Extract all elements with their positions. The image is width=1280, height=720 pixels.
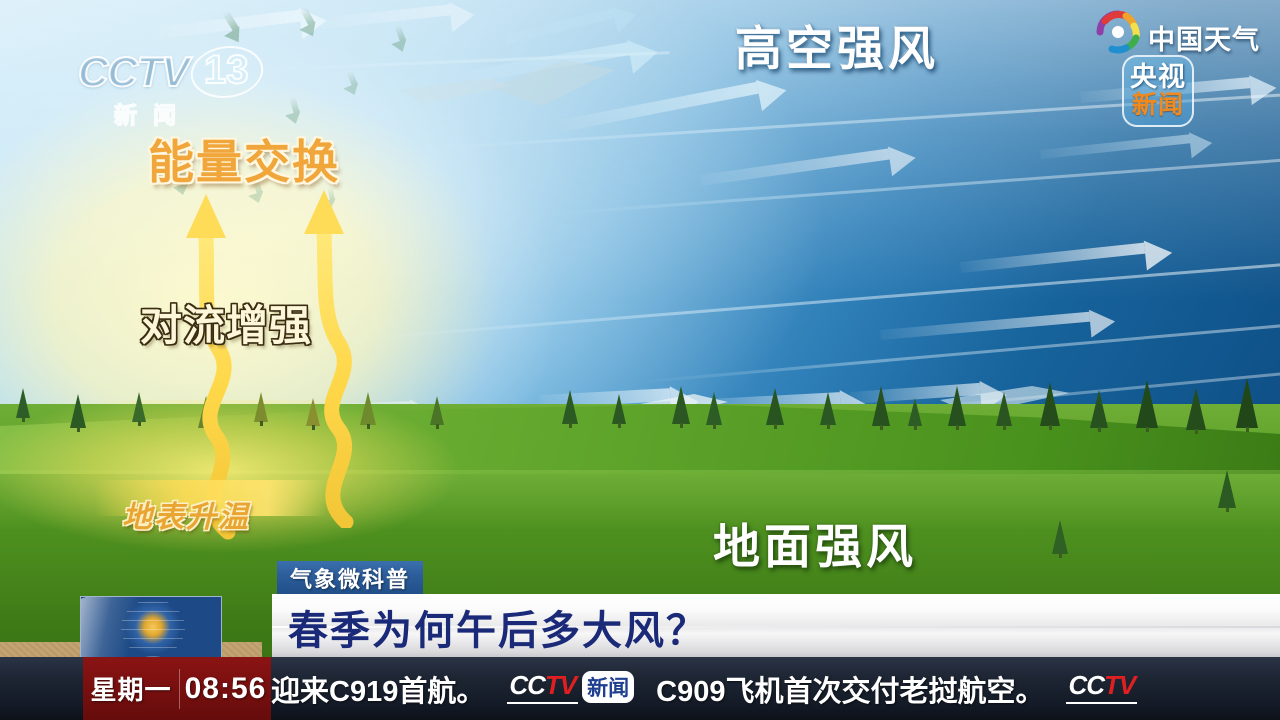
inline-tv-2: TV bbox=[1104, 670, 1135, 700]
tree-icon bbox=[948, 386, 966, 430]
tree-icon bbox=[1090, 390, 1108, 432]
label-ground-wind: 地面强风 bbox=[713, 508, 917, 577]
ticker-scroll-area: 迎来C919首航。 CCTV 新闻 C909飞机首次交付老挝航空。 CCTV bbox=[271, 657, 1280, 720]
headline: 春季为何午后多大风？ bbox=[288, 604, 708, 650]
cctv-news-inline-logo: CCTV 新闻 bbox=[507, 670, 634, 704]
inline-tv: TV bbox=[545, 670, 576, 700]
china-weather-brand: 中国天气 bbox=[1148, 18, 1260, 57]
ticker-item-2: C909飞机首次交付老挝航空。 bbox=[656, 668, 1044, 710]
bug-subtitle: 新闻 bbox=[114, 96, 192, 130]
tree-icon bbox=[872, 386, 890, 430]
label-energy-exchange: 能量交换 bbox=[148, 126, 340, 192]
inline-cc-2: CC bbox=[1068, 670, 1104, 700]
ticker-weekday: 星期一 bbox=[83, 670, 179, 707]
tree-icon bbox=[672, 386, 690, 428]
tree-icon bbox=[1052, 520, 1068, 558]
label-surface-warming: 地表升温 bbox=[122, 492, 250, 536]
tree-icon bbox=[820, 392, 836, 429]
ticker-item-1: 迎来C919首航。 bbox=[271, 668, 485, 710]
inline-cctv-text: CCTV bbox=[507, 670, 578, 704]
convection-arrow-right bbox=[250, 178, 490, 528]
inline-cc: CC bbox=[509, 670, 545, 700]
badge-line-1: 央视 bbox=[1130, 63, 1186, 92]
broadcast-screen: 高空强风 能量交换 对流增强 地表升温 地面强风 CCTV 13 新闻 中国天气… bbox=[0, 0, 1280, 720]
ticker-clock-box: 星期一 08:56 bbox=[83, 657, 271, 720]
tree-icon bbox=[706, 392, 722, 429]
tree-icon bbox=[1218, 470, 1236, 512]
tree-icon bbox=[1186, 388, 1206, 434]
badge-line-2: 新闻 bbox=[1132, 92, 1184, 119]
tree-icon bbox=[70, 394, 86, 432]
cctv-news-badge: 央视 新闻 bbox=[1122, 55, 1194, 127]
tree-icon bbox=[612, 394, 626, 428]
tree-icon bbox=[562, 390, 578, 428]
bug-channel-number: 13 bbox=[204, 48, 249, 93]
channel-bug-cctv13: CCTV 13 新闻 bbox=[78, 50, 278, 130]
tree-icon bbox=[16, 388, 30, 422]
inline-xinwen: 新闻 bbox=[582, 671, 634, 703]
ticker-time: 08:56 bbox=[180, 672, 271, 706]
inline-cctv-text-2: CCTV bbox=[1066, 670, 1137, 704]
china-weather-spiral-icon bbox=[1096, 10, 1140, 54]
tree-icon bbox=[766, 388, 784, 429]
tree-icon bbox=[1040, 382, 1060, 430]
tree-icon bbox=[1236, 378, 1258, 432]
cctv-news-inline-logo-2: CCTV bbox=[1066, 670, 1137, 704]
program-globe-graphic bbox=[80, 596, 222, 658]
label-convection: 对流增强 bbox=[140, 292, 312, 353]
tree-icon bbox=[908, 398, 922, 430]
segment-tag: 气象微科普 bbox=[277, 561, 423, 594]
tree-icon bbox=[1136, 380, 1158, 432]
label-upper-wind: 高空强风 bbox=[735, 10, 939, 79]
tree-icon bbox=[996, 392, 1012, 430]
